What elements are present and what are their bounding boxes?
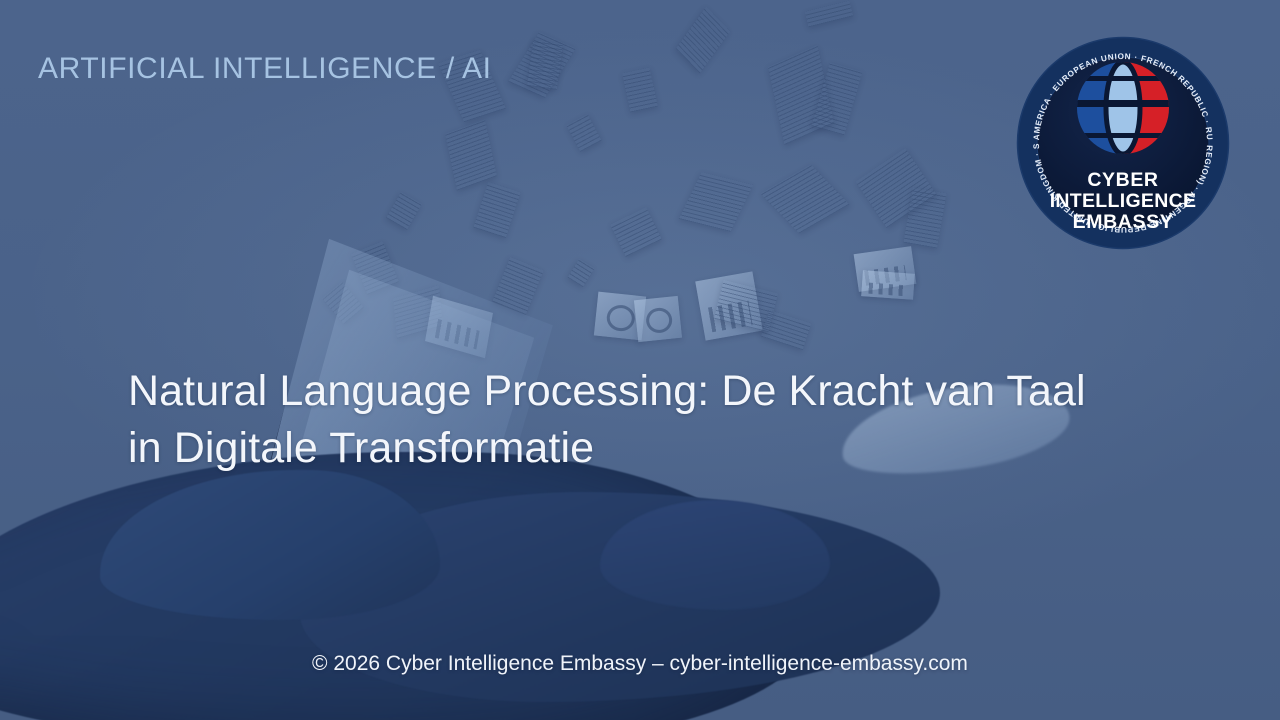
- logo-line-1: CYBER: [1087, 169, 1158, 191]
- globe-icon: [1077, 62, 1169, 154]
- document-sheet: [622, 68, 658, 113]
- document-sheet: [805, 1, 854, 28]
- logo-line-2: INTELLIGENCE: [1050, 190, 1197, 212]
- document-sheet: [568, 259, 595, 287]
- document-sheet: [610, 207, 662, 257]
- document-sheet: [761, 310, 811, 350]
- document-sheet: [676, 7, 731, 74]
- document-sheet-chart: [861, 270, 915, 300]
- document-sheet: [566, 114, 601, 152]
- document-sheet-pie: [634, 296, 682, 342]
- document-sheet: [473, 182, 520, 238]
- logo-line-3: EMBASSY: [1073, 211, 1174, 233]
- presentation-slide: ARTIFICIAL INTELLIGENCE / AI Natural Lan…: [0, 0, 1280, 720]
- category-kicker: ARTIFICIAL INTELLIGENCE / AI: [38, 52, 492, 86]
- document-sheet: [445, 119, 497, 190]
- footer-credit: © 2026 Cyber Intelligence Embassy – cybe…: [0, 652, 1280, 676]
- document-sheet: [386, 192, 422, 230]
- document-sheet: [679, 172, 753, 232]
- page-title: Natural Language Processing: De Kracht v…: [128, 363, 1108, 477]
- document-sheet: [527, 40, 563, 90]
- cyber-intelligence-embassy-logo[interactable]: UNITED STATES OF AMERICA · EUROPEAN UNIO…: [1016, 36, 1230, 250]
- document-sheet: [761, 164, 850, 233]
